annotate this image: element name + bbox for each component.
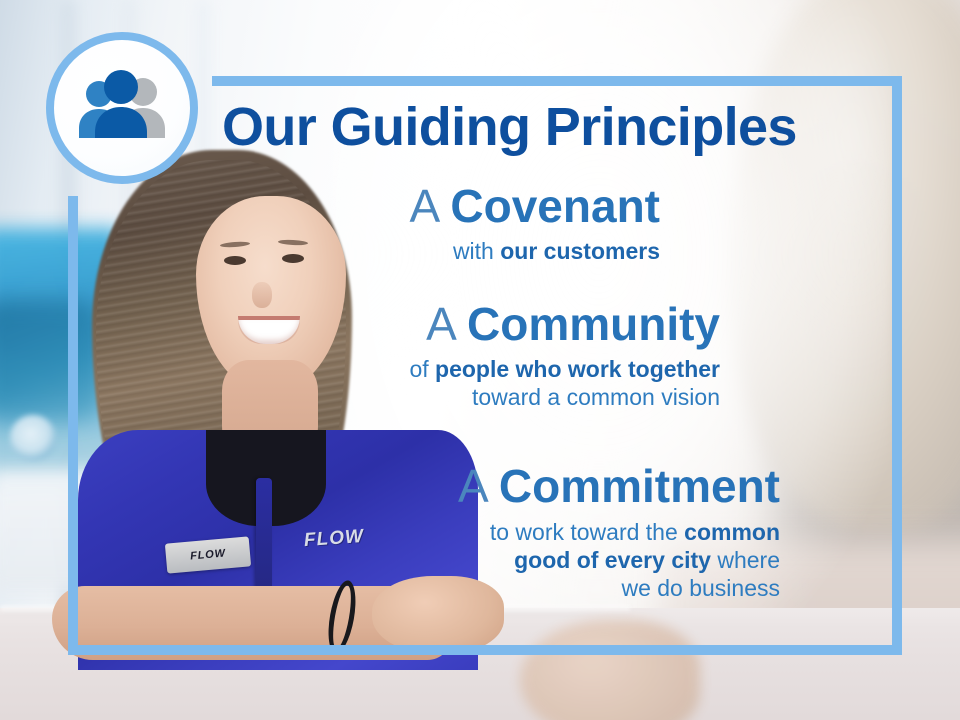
frame-border-left — [68, 196, 78, 655]
principle-covenant-sub-emphasis: our customers — [500, 238, 660, 264]
principle-covenant-sub-lead: with — [453, 238, 500, 264]
principle-commitment-sub-line-2: good of every city where — [360, 546, 780, 574]
principle-commitment-sub-emphasis-2: good of every city — [514, 547, 711, 573]
principle-commitment-sub-lead: to work toward the — [490, 519, 684, 545]
principle-commitment-subtext: to work toward the common good of every … — [360, 518, 780, 602]
principle-commitment-article: A — [458, 460, 499, 512]
principle-community-subtext: of people who work together toward a com… — [300, 355, 720, 411]
principle-community-sub-line-1: of people who work together — [300, 355, 720, 383]
associate-eye — [224, 256, 246, 265]
principle-covenant-subtext: with our customers — [260, 237, 660, 265]
principle-commitment-sub-emphasis-1: common — [684, 519, 780, 545]
principle-covenant: A Covenant with our customers — [260, 182, 660, 265]
uniform-chest-logo: FLOW — [303, 526, 364, 552]
principle-commitment-keyword: Commitment — [499, 460, 780, 512]
frame-border-right — [892, 76, 902, 655]
principle-community-article: A — [426, 298, 467, 350]
frame-border-top — [212, 76, 902, 86]
uniform-name-badge-text: FLOW — [190, 547, 226, 562]
principle-community-keyword: Community — [467, 298, 720, 350]
principle-covenant-heading: A Covenant — [260, 182, 660, 230]
principle-community-heading: A Community — [300, 300, 720, 348]
principle-commitment-heading: A Commitment — [360, 462, 780, 510]
principle-community-sub-lead: of — [409, 356, 435, 382]
principle-commitment-sub-line-3: we do business — [360, 574, 780, 602]
principle-commitment: A Commitment to work toward the common g… — [360, 462, 780, 602]
principle-covenant-keyword: Covenant — [450, 180, 660, 232]
principle-covenant-article: A — [409, 180, 450, 232]
principle-community-sub-line-2: toward a common vision — [300, 383, 720, 411]
associate-nose — [252, 282, 272, 308]
principle-commitment-sub-tail: where — [711, 547, 780, 573]
group-of-people-icon — [46, 32, 198, 184]
frame-border-bottom — [68, 645, 902, 655]
principle-community-sub-emphasis: people who work together — [435, 356, 720, 382]
principle-community: A Community of people who work together … — [300, 300, 720, 411]
guiding-principles-banner: FLOW FLOW Our Guiding Principles — [0, 0, 960, 720]
page-title: Our Guiding Principles — [222, 96, 797, 158]
principle-commitment-sub-line-1: to work toward the common — [360, 518, 780, 546]
